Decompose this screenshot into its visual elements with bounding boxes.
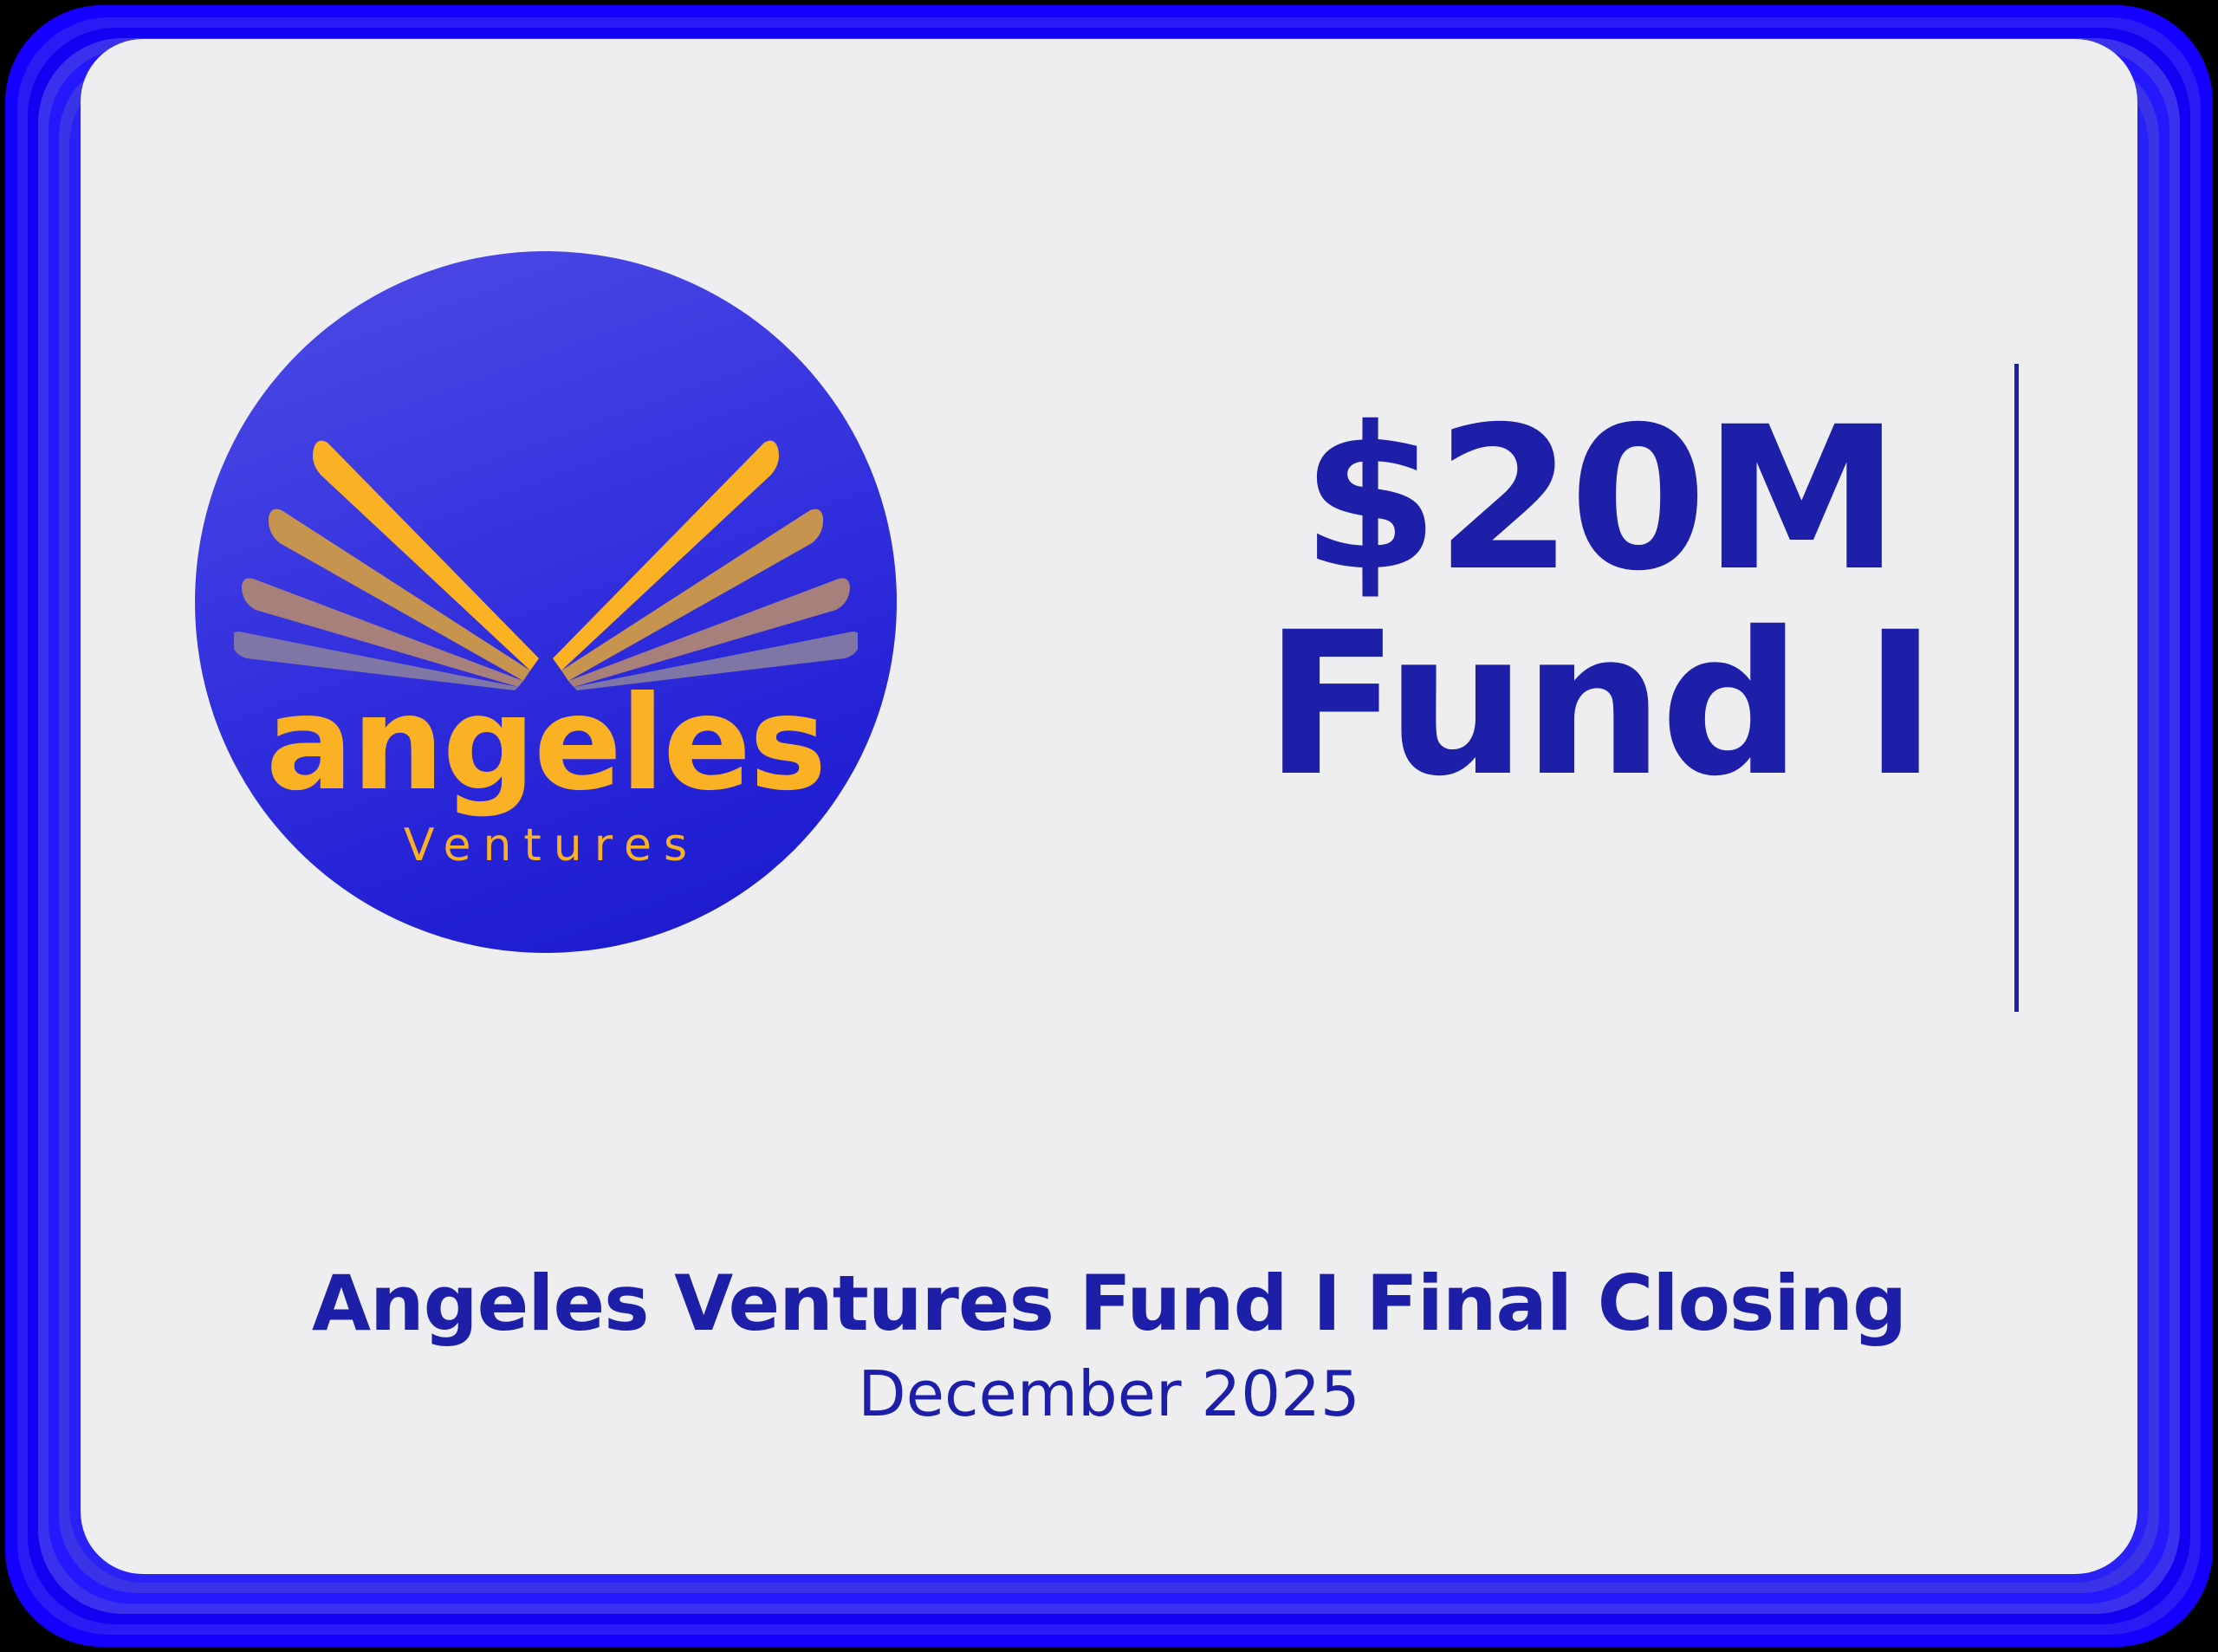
announcement-card-stage: angeles Ventures $20M Fund I Angeles Ven… <box>0 0 2218 1652</box>
headline-amount: $20M <box>1301 397 1897 602</box>
logo-column: angeles Ventures <box>82 251 1009 953</box>
caption-block: Angeles Ventures Fund I Final Closing De… <box>81 1262 2137 1428</box>
caption-date: December 2025 <box>81 1360 2137 1428</box>
hero-row: angeles Ventures $20M Fund I <box>81 39 2137 1165</box>
divider-column <box>1009 39 1010 1165</box>
logo-subword: Ventures <box>195 823 897 868</box>
logo-wordmark: angeles <box>195 679 897 809</box>
headline-column: $20M Fund I <box>1010 397 2137 807</box>
headline-fund-name: Fund I <box>1264 602 1933 807</box>
vertical-divider <box>2014 364 2019 1012</box>
caption-title: Angeles Ventures Fund I Final Closing <box>81 1262 2137 1346</box>
logo-circle-badge: angeles Ventures <box>195 251 897 953</box>
announcement-card: angeles Ventures $20M Fund I Angeles Ven… <box>81 39 2137 1574</box>
open-book-wings-icon <box>234 431 858 691</box>
